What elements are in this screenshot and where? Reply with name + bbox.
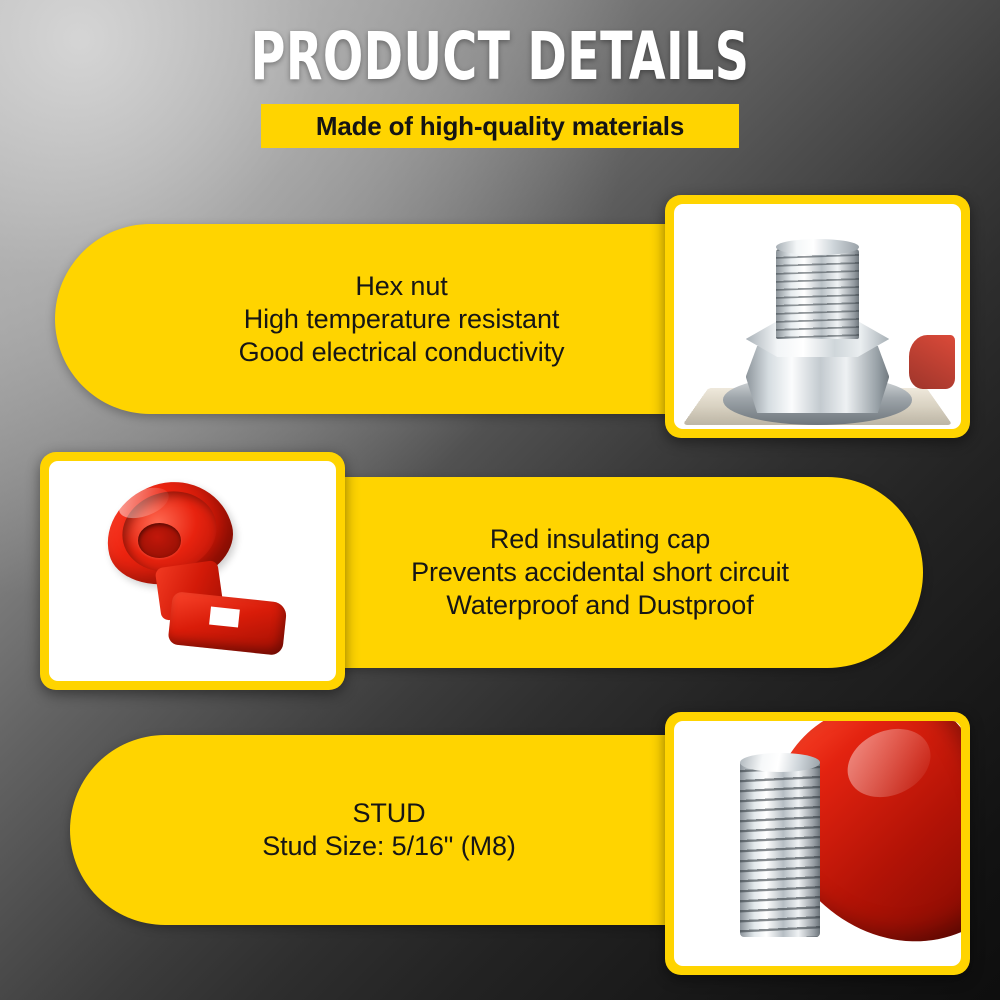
feature-text-stud: STUD Stud Size: 5/16" (M8) xyxy=(70,797,668,863)
hex-nut-threaded-stud xyxy=(776,249,859,339)
feature-panel-stud: STUD Stud Size: 5/16" (M8) xyxy=(70,735,668,925)
feature-line: Hex nut xyxy=(175,270,628,303)
feature-text-insulating-cap: Red insulating cap Prevents accidental s… xyxy=(337,523,923,622)
subtitle-banner: Made of high-quality materials xyxy=(261,104,739,148)
feature-line: STUD xyxy=(170,797,608,830)
hex-nut-red-accent xyxy=(909,335,955,389)
cap-tab-notch xyxy=(209,607,239,627)
feature-image-card-stud xyxy=(665,712,970,975)
feature-panel-insulating-cap: Red insulating cap Prevents accidental s… xyxy=(337,477,923,668)
hex-nut-stud-cap xyxy=(776,239,859,255)
hex-nut-photo xyxy=(674,204,961,429)
feature-image-card-hex-nut xyxy=(665,195,970,438)
insulating-cap-photo xyxy=(49,461,336,681)
feature-line: Waterproof and Dustproof xyxy=(377,589,823,622)
feature-text-hex-nut: Hex nut High temperature resistant Good … xyxy=(55,270,668,369)
cap-center-hole xyxy=(138,523,181,558)
product-details-infographic: PRODUCT DETAILS Made of high-quality mat… xyxy=(0,0,1000,1000)
feature-line: Prevents accidental short circuit xyxy=(377,556,823,589)
feature-line: Good electrical conductivity xyxy=(175,336,628,369)
subtitle-text: Made of high-quality materials xyxy=(316,111,684,142)
feature-line: High temperature resistant xyxy=(175,303,628,336)
stud-threaded-shaft xyxy=(740,760,820,936)
feature-panel-hex-nut: Hex nut High temperature resistant Good … xyxy=(55,224,668,414)
page-title: PRODUCT DETAILS xyxy=(100,22,900,92)
feature-line: Red insulating cap xyxy=(377,523,823,556)
stud-photo xyxy=(674,721,961,966)
feature-line: Stud Size: 5/16" (M8) xyxy=(170,830,608,863)
feature-image-card-insulating-cap xyxy=(40,452,345,690)
